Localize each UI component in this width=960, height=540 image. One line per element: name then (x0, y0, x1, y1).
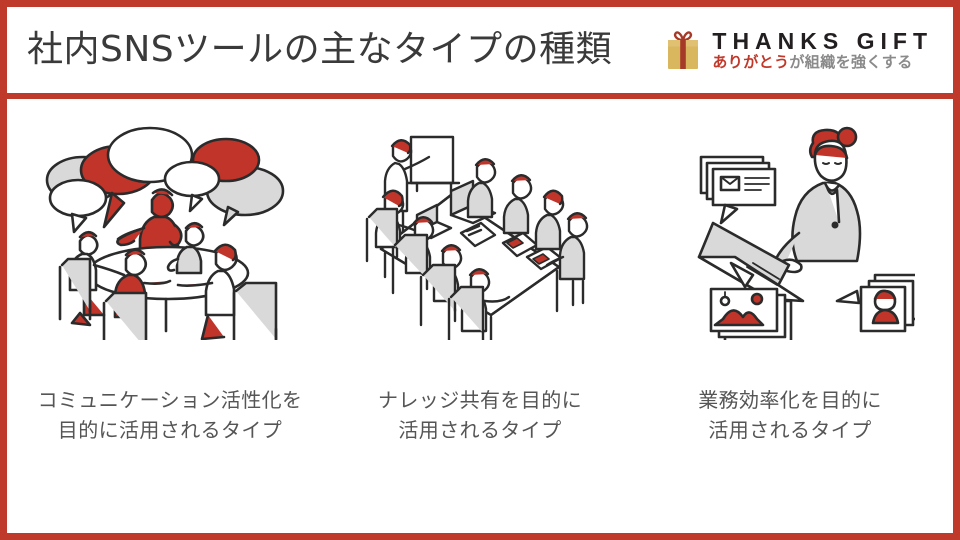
illustration-laptop-person-cards (650, 117, 930, 347)
brand-logo: THANKS GIFT ありがとうが組織を強くする (666, 29, 937, 71)
gift-box-icon (666, 29, 700, 71)
column-knowledge-sharing: ナレッジ共有を目的に 活用されるタイプ (330, 117, 630, 445)
column-efficiency: 業務効率化を目的に 活用されるタイプ (640, 117, 940, 445)
logo-tagline-red: ありがとう (712, 53, 789, 71)
page-title: 社内SNSツールの主なタイプの種類 (27, 32, 612, 68)
caption-line-2: 目的に活用されるタイプ (38, 415, 303, 445)
caption-line-2: 活用されるタイプ (378, 415, 582, 445)
caption-knowledge-sharing: ナレッジ共有を目的に 活用されるタイプ (378, 385, 582, 445)
logo-tagline: ありがとうが組織を強くする (712, 55, 933, 70)
caption-line-1: コミュニケーション活性化を (38, 385, 303, 415)
logo-text-block: THANKS GIFT ありがとうが組織を強くする (712, 30, 933, 70)
logo-title: THANKS GIFT (712, 30, 933, 53)
column-communication: コミュニケーション活性化を 目的に活用されるタイプ (20, 117, 320, 445)
caption-efficiency: 業務効率化を目的に 活用されるタイプ (698, 385, 882, 445)
logo-tagline-grey: が組織を強くする (789, 53, 912, 71)
slide-frame: 社内SNSツールの主なタイプの種類 THANKS GIFT ありがとうが組織を強… (0, 0, 960, 540)
illustration-round-table-discussion (30, 117, 310, 347)
columns-container: コミュニケーション活性化を 目的に活用されるタイプ (7, 99, 953, 533)
caption-line-1: ナレッジ共有を目的に (378, 385, 582, 415)
caption-communication: コミュニケーション活性化を 目的に活用されるタイプ (38, 385, 303, 445)
illustration-conference-meeting (340, 117, 620, 347)
slide-header: 社内SNSツールの主なタイプの種類 THANKS GIFT ありがとうが組織を強… (7, 7, 953, 93)
caption-line-1: 業務効率化を目的に (698, 385, 882, 415)
caption-line-2: 活用されるタイプ (698, 415, 882, 445)
